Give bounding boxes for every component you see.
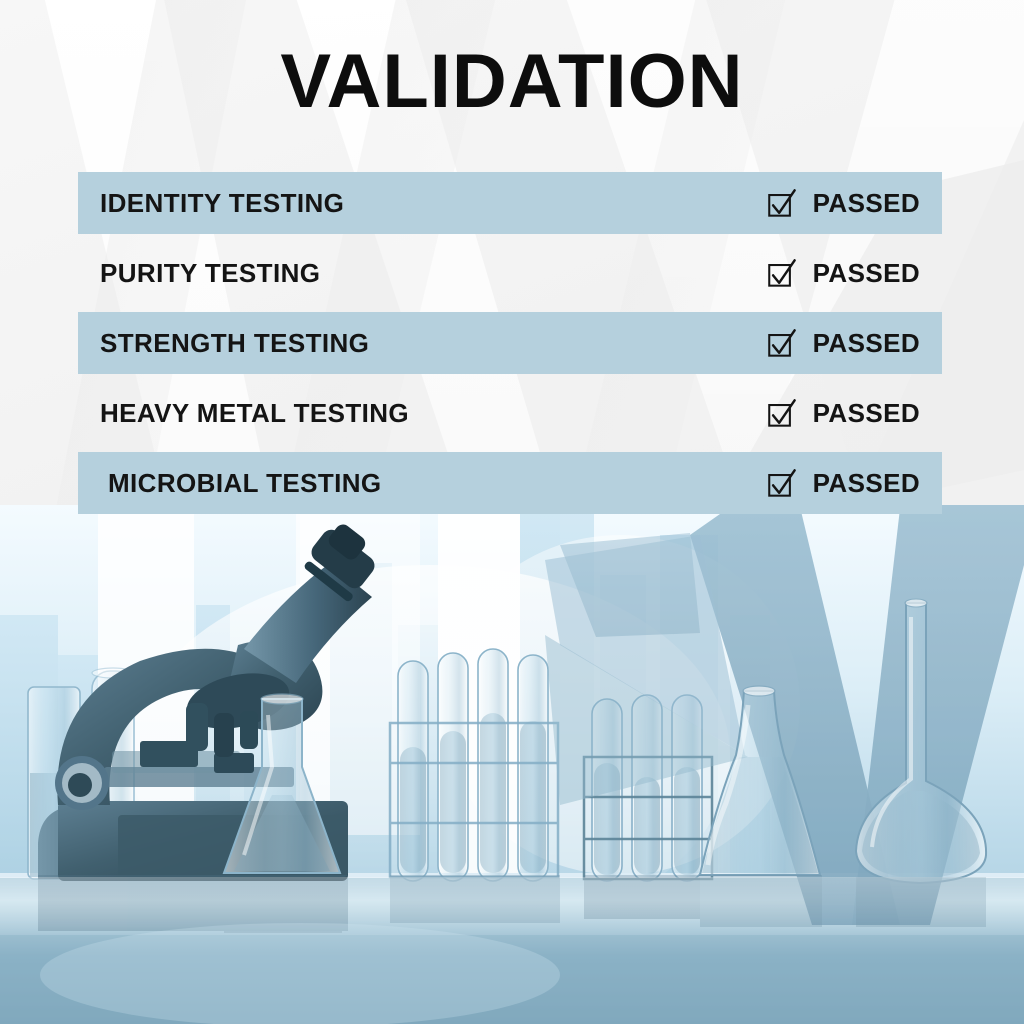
test-name-label: PURITY TESTING	[100, 258, 320, 289]
checkbox-checked-icon[interactable]	[767, 188, 797, 218]
table-row[interactable]: IDENTITY TESTING PASSED	[78, 172, 942, 234]
checkbox-checked-icon[interactable]	[767, 468, 797, 498]
table-row[interactable]: STRENGTH TESTING PASSED	[78, 312, 942, 374]
test-name-label: STRENGTH TESTING	[100, 328, 369, 359]
status-badge: PASSED	[767, 468, 920, 499]
status-label: PASSED	[813, 258, 920, 289]
status-badge: PASSED	[767, 398, 920, 429]
checkbox-checked-icon[interactable]	[767, 328, 797, 358]
poster-canvas: VALIDATION IDENTITY TESTING PASSED PURIT…	[0, 0, 1024, 1024]
status-label: PASSED	[813, 398, 920, 429]
status-badge: PASSED	[767, 258, 920, 289]
test-name-label: HEAVY METAL TESTING	[100, 398, 409, 429]
status-label: PASSED	[813, 188, 920, 219]
test-name-label: MICROBIAL TESTING	[100, 468, 382, 499]
status-label: PASSED	[813, 468, 920, 499]
laboratory-photo	[0, 505, 1024, 1024]
table-row[interactable]: PURITY TESTING PASSED	[78, 242, 942, 304]
checkbox-checked-icon[interactable]	[767, 398, 797, 428]
validation-checklist: IDENTITY TESTING PASSED PURITY TESTING P…	[78, 172, 942, 522]
test-name-label: IDENTITY TESTING	[100, 188, 344, 219]
status-badge: PASSED	[767, 328, 920, 359]
page-title: VALIDATION	[0, 44, 1024, 120]
status-badge: PASSED	[767, 188, 920, 219]
status-label: PASSED	[813, 328, 920, 359]
table-row[interactable]: HEAVY METAL TESTING PASSED	[78, 382, 942, 444]
table-row[interactable]: MICROBIAL TESTING PASSED	[78, 452, 942, 514]
checkbox-checked-icon[interactable]	[767, 258, 797, 288]
